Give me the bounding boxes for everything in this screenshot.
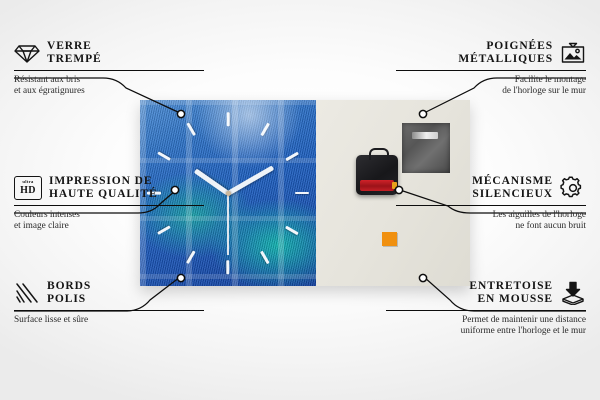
feature-header: MÉCANISME SILENCIEUX bbox=[396, 175, 586, 201]
feature-description: Surface lisse et sûre bbox=[14, 315, 204, 326]
feature-title: VERRE TREMPÉ bbox=[47, 40, 102, 66]
battery bbox=[360, 180, 394, 191]
foam-spacer bbox=[382, 232, 397, 246]
hour-marker bbox=[295, 192, 309, 195]
feature-title: POIGNÉES MÉTALLIQUES bbox=[458, 40, 553, 66]
second-hand bbox=[227, 193, 229, 255]
quartz-mechanism bbox=[356, 155, 398, 195]
feature-description: Les aiguilles de l'horloge ne font aucun… bbox=[396, 210, 586, 232]
hour-marker bbox=[260, 250, 269, 263]
hour-marker bbox=[157, 151, 170, 160]
feature-mecanisme-silencieux[interactable]: MÉCANISME SILENCIEUX Les aiguilles de l'… bbox=[396, 175, 586, 232]
divider bbox=[396, 70, 586, 71]
feature-description: Facilite le montage de l'horloge sur le … bbox=[396, 75, 586, 97]
clock-hub bbox=[226, 191, 231, 196]
feature-title: ENTRETOISE EN MOUSSE bbox=[469, 280, 553, 306]
hour-marker bbox=[260, 122, 269, 135]
feature-header: ultra HD IMPRESSION DE HAUTE QUALITÉ bbox=[14, 175, 204, 201]
hour-marker bbox=[285, 225, 298, 234]
hour-marker bbox=[186, 250, 195, 263]
feature-title: MÉCANISME SILENCIEUX bbox=[472, 175, 553, 201]
divider bbox=[14, 205, 204, 206]
feature-description: Résistant aux bris et aux égratignures bbox=[14, 75, 204, 97]
minute-hand bbox=[227, 165, 275, 195]
ultra-hd-badge-icon: ultra HD bbox=[14, 176, 42, 200]
feature-header: BORDS POLIS bbox=[14, 280, 204, 306]
feature-description: Couleurs intenses et image claire bbox=[14, 210, 204, 232]
feature-title: IMPRESSION DE HAUTE QUALITÉ bbox=[49, 175, 158, 201]
divider bbox=[396, 205, 586, 206]
feature-header: VERRE TREMPÉ bbox=[14, 40, 204, 66]
infographic-canvas: VERRE TREMPÉ Résistant aux bris et aux é… bbox=[0, 0, 600, 400]
feature-impression-haute-qualite[interactable]: ultra HD IMPRESSION DE HAUTE QUALITÉ Cou… bbox=[14, 175, 204, 232]
feature-entretoise-en-mousse[interactable]: ENTRETOISE EN MOUSSE Permet de maintenir… bbox=[386, 280, 586, 337]
mechanism-hook bbox=[369, 148, 389, 160]
hour-marker bbox=[186, 122, 195, 135]
feature-verre-trempe[interactable]: VERRE TREMPÉ Résistant aux bris et aux é… bbox=[14, 40, 204, 97]
divider bbox=[14, 310, 204, 311]
metal-hanger-plate bbox=[402, 123, 450, 173]
feature-title: BORDS POLIS bbox=[47, 280, 91, 306]
hour-marker bbox=[285, 151, 298, 160]
feature-header: POIGNÉES MÉTALLIQUES bbox=[396, 40, 586, 66]
feature-description: Permet de maintenir une distance uniform… bbox=[386, 315, 586, 337]
hour-marker bbox=[227, 260, 230, 274]
feature-bords-polis[interactable]: BORDS POLIS Surface lisse et sûre bbox=[14, 280, 204, 326]
feature-poignees-metalliques[interactable]: POIGNÉES MÉTALLIQUES Facilite le montage… bbox=[396, 40, 586, 97]
feature-header: ENTRETOISE EN MOUSSE bbox=[386, 280, 586, 306]
foam-spacer-arrow-icon bbox=[560, 281, 586, 305]
hour-marker bbox=[227, 112, 230, 126]
picture-frame-hanger-icon bbox=[560, 41, 586, 65]
gear-icon bbox=[560, 176, 586, 200]
polished-edges-icon bbox=[14, 281, 40, 305]
diamond-icon bbox=[14, 41, 40, 65]
divider bbox=[386, 310, 586, 311]
divider bbox=[14, 70, 204, 71]
